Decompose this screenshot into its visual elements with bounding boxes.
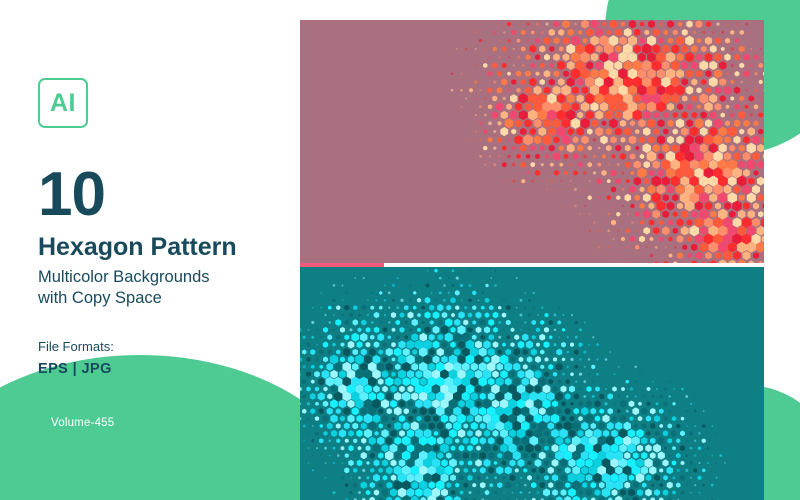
hexagon-pattern-warm-art xyxy=(300,20,764,263)
poster-canvas: AI 10 Hexagon Pattern Multicolor Backgro… xyxy=(0,0,800,500)
volume-badge: Volume-455 xyxy=(38,412,127,435)
file-formats-value: EPS | JPG xyxy=(38,361,293,377)
page-subtitle-line2: with Copy Space xyxy=(38,288,293,309)
page-subtitle: Multicolor Backgrounds with Copy Space xyxy=(38,267,293,309)
ai-format-badge: AI xyxy=(38,78,88,128)
preview-hexagon-pattern-warm[interactable] xyxy=(300,20,764,263)
page-title: Hexagon Pattern xyxy=(38,233,293,261)
item-count: 10 xyxy=(38,166,293,225)
file-formats-label: File Formats: xyxy=(38,339,293,354)
ai-format-badge-label: AI xyxy=(50,91,76,116)
preview-gallery xyxy=(300,20,764,500)
hexagon-pattern-cyan-art xyxy=(300,267,764,500)
page-subtitle-line1: Multicolor Backgrounds xyxy=(38,267,293,288)
info-panel: AI 10 Hexagon Pattern Multicolor Backgro… xyxy=(38,78,293,435)
preview-hexagon-pattern-cyan[interactable] xyxy=(300,267,764,500)
